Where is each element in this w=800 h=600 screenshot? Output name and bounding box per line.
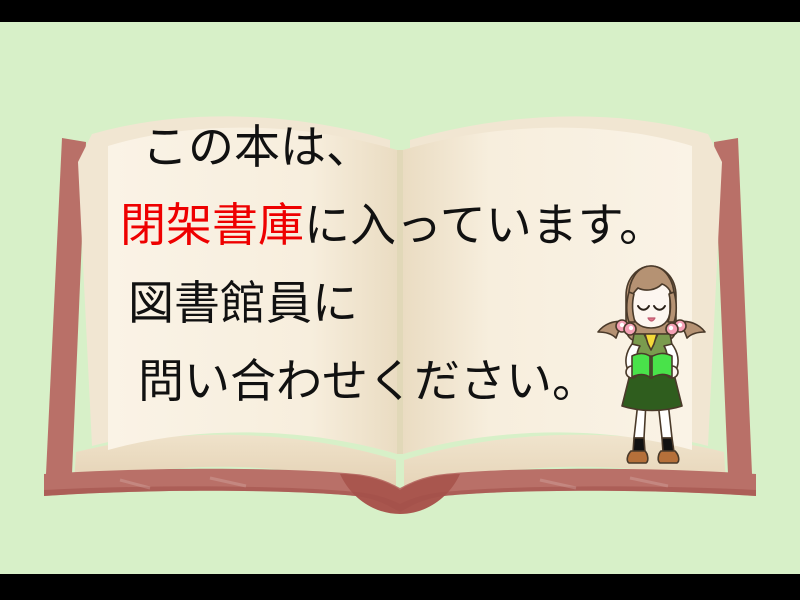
message-line-2: 閉架書庫に入っています。 <box>120 186 700 264</box>
shoe-right <box>658 451 679 463</box>
letterbox-bottom <box>0 574 800 600</box>
message-highlight-closed-stacks: 閉架書庫 <box>120 198 304 252</box>
sock-right <box>662 438 674 452</box>
sock-left <box>633 438 645 452</box>
message-line-1: この本は、 <box>120 108 700 186</box>
held-open-book <box>632 353 672 378</box>
message-line-2-rest: に入っています。 <box>304 198 665 252</box>
letterbox-top <box>0 0 800 22</box>
girl-reading-book-illustration <box>588 262 714 472</box>
shoe-left <box>627 451 648 463</box>
screenshot-canvas: この本は、 閉架書庫に入っています。 図書館員に 問い合わせください。 <box>0 0 800 600</box>
book-spine <box>44 469 756 514</box>
